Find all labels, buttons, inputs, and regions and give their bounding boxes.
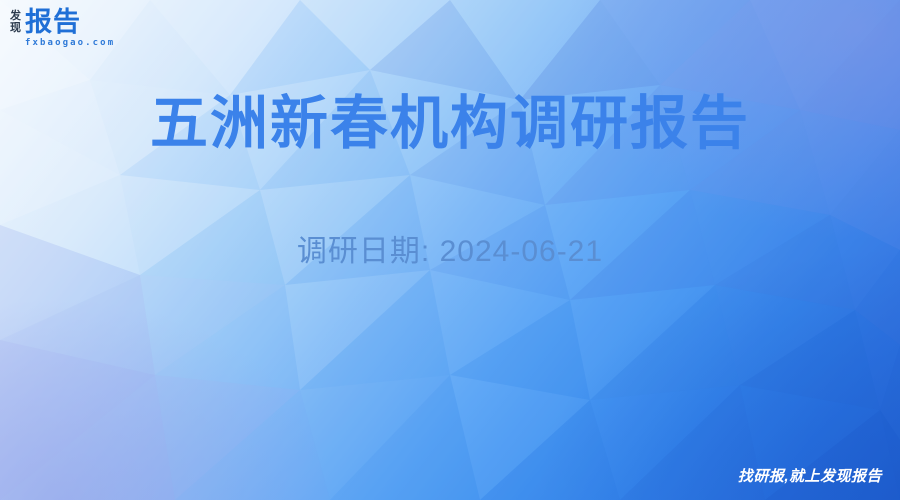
fxbaogao-logo[interactable]: 发 现 报告 fxbaogao.com: [10, 8, 115, 48]
logo-text-block: 报告 fxbaogao.com: [25, 8, 115, 48]
logo-website-url: fxbaogao.com: [25, 39, 115, 48]
page-title: 五洲新春机构调研报告: [0, 88, 900, 160]
logo-mark-top-char: 发: [10, 10, 21, 22]
report-cover-page: 发 现 报告 fxbaogao.com 五洲新春机构调研报告 调研日期: 202…: [0, 0, 900, 500]
logo-mark-characters: 发 现: [10, 8, 21, 34]
logo-wordmark: 报告: [25, 8, 115, 36]
logo-mark-bottom-char: 现: [10, 22, 21, 34]
survey-date-subtitle: 调研日期: 2024-06-21: [0, 232, 900, 272]
brand-slogan: 找研报,就上发现报告: [738, 465, 882, 486]
